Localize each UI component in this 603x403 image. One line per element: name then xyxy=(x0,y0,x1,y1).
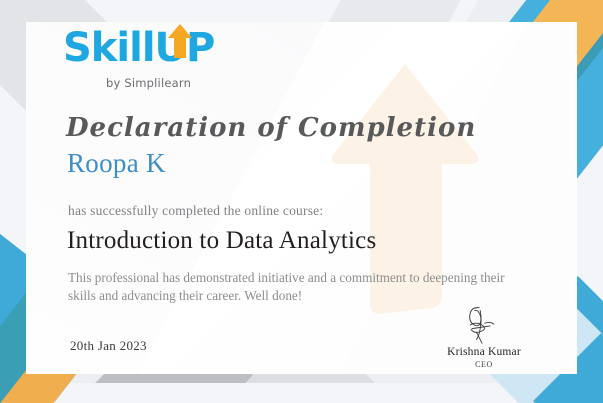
certificate-blurb: This professional has demonstrated initi… xyxy=(68,269,508,305)
course-title: Introduction to Data Analytics xyxy=(67,227,376,255)
issue-date: 20th Jan 2023 xyxy=(70,338,147,354)
certificate: SkillUP by Simplilearn Declaration of Co… xyxy=(0,0,603,403)
completion-subline: has successfully completed the online co… xyxy=(68,203,323,219)
signature-block: Krishna Kumar CEO xyxy=(432,305,536,369)
logo-wordmark: SkillUP xyxy=(63,28,263,70)
skillup-logo: SkillUP by Simplilearn xyxy=(63,28,263,90)
signatory-title: CEO xyxy=(432,360,536,369)
signatory-name: Krishna Kumar xyxy=(432,346,536,358)
certificate-heading: Declaration of Completion xyxy=(66,113,476,143)
handwritten-signature-icon xyxy=(452,305,516,345)
logo-orange-arrow-icon xyxy=(167,24,193,58)
logo-tagline: by Simplilearn xyxy=(106,76,263,90)
recipient-name: Roopa K xyxy=(67,148,166,179)
